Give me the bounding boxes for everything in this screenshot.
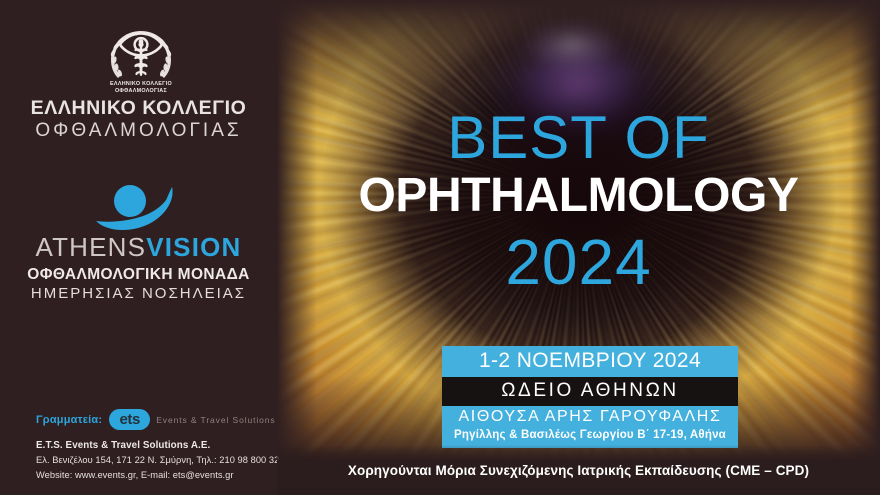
cme-credits-text: Χορηγούνται Μόρια Συνεχιζόμενης Ιατρικής… (348, 463, 809, 478)
athens-vision-eye-icon (88, 181, 192, 233)
secretariat-logo-row: Γραμματεία: ets Events & Travel Solution… (36, 409, 279, 430)
hellenic-college-emblem-icon: ΕΛΛΗΝΙΚΟ ΚΟΛΛΕΓΙΟ ΟΦΘΑΛΜΟΛΟΓΙΑΣ (102, 26, 180, 96)
sponsor-panel: ΕΛΛΗΝΙΚΟ ΚΟΛΛΕΓΙΟ ΟΦΘΑΛΜΟΛΟΓΙΑΣ ΕΛΛΗΝΙΚΟ… (0, 0, 277, 495)
athens-vision-word-athens: ATHENS (35, 232, 146, 262)
secretariat-company: E.T.S. Events & Travel Solutions A.E. (36, 438, 279, 453)
athens-vision-subtitle-line2: ΗΜΕΡΗΣΙΑΣ ΝΟΣΗΛΕΙΑΣ (0, 285, 277, 304)
hellenic-college-name: ΕΛΛΗΝΙΚΟ ΚΟΛΛΕΓΙΟ ΟΦΘΑΛΜΟΛΟΓΙΑΣ (0, 98, 277, 143)
emblem-inner-line1: ΕΛΛΗΝΙΚΟ ΚΟΛΛΕΓΙΟ (110, 81, 172, 87)
secretariat-address: Ελ. Βενιζέλου 154, 171 22 Ν. Σμύρνη, Τηλ… (36, 453, 279, 468)
athens-vision-subtitle-line1: ΟΦΘΑΛΜΟΛΟΓΙΚΗ ΜΟΝΑΔΑ (0, 266, 277, 285)
ets-logo-tagline: Events & Travel Solutions (156, 415, 275, 425)
secretariat-block: Γραμματεία: ets Events & Travel Solution… (36, 409, 279, 483)
date-venue-banner: 1-2 ΝΟΕΜΒΡΙΟΥ 2024 ΩΔΕΙΟ ΑΘΗΝΩΝ ΑΙΘΟΥΣΑ … (442, 346, 738, 448)
secretariat-contact-lines: E.T.S. Events & Travel Solutions A.E. Ελ… (36, 438, 279, 483)
secretariat-label: Γραμματεία: (36, 414, 102, 426)
athens-vision-subtitle: ΟΦΘΑΛΜΟΛΟΓΙΚΗ ΜΟΝΑΔΑ ΗΜΕΡΗΣΙΑΣ ΝΟΣΗΛΕΙΑΣ (0, 266, 277, 304)
emblem-inner-line2: ΟΦΘΑΛΜΟΛΟΓΙΑΣ (115, 88, 168, 94)
ets-logo-mark: ets (109, 409, 150, 430)
cme-footer-strip: Χορηγούνται Μόρια Συνεχιζόμενης Ιατρικής… (277, 445, 880, 495)
title-line-ophthalmology: OPHTHALMOLOGY (277, 172, 880, 220)
title-line-best-of: BEST OF (277, 108, 880, 168)
hellenic-college-line1: ΕΛΛΗΝΙΚΟ ΚΟΛΛΕΓΙΟ (0, 98, 277, 119)
banner-venue: ΩΔΕΙΟ ΑΘΗΝΩΝ (442, 377, 738, 406)
banner-date: 1-2 ΝΟΕΜΒΡΙΟΥ 2024 (442, 346, 738, 377)
athens-vision-word-vision: VISION (146, 232, 241, 262)
title-year: 2024 (277, 230, 880, 294)
banner-hall: ΑΙΘΟΥΣΑ ΑΡΗΣ ΓΑΡΟΥΦΑΛΗΣ (442, 406, 738, 427)
secretariat-web: Website: www.events.gr, E-mail: ets@even… (36, 468, 279, 483)
hellenic-college-line2: ΟΦΘΑΛΜΟΛΟΓΙΑΣ (0, 119, 277, 143)
athens-vision-wordmark: ATHENSVISION (0, 232, 277, 263)
conference-poster: BEST OF OPHTHALMOLOGY 2024 1-2 ΝΟΕΜΒΡΙΟΥ… (0, 0, 880, 495)
ets-logo: ets Events & Travel Solutions (109, 409, 275, 430)
